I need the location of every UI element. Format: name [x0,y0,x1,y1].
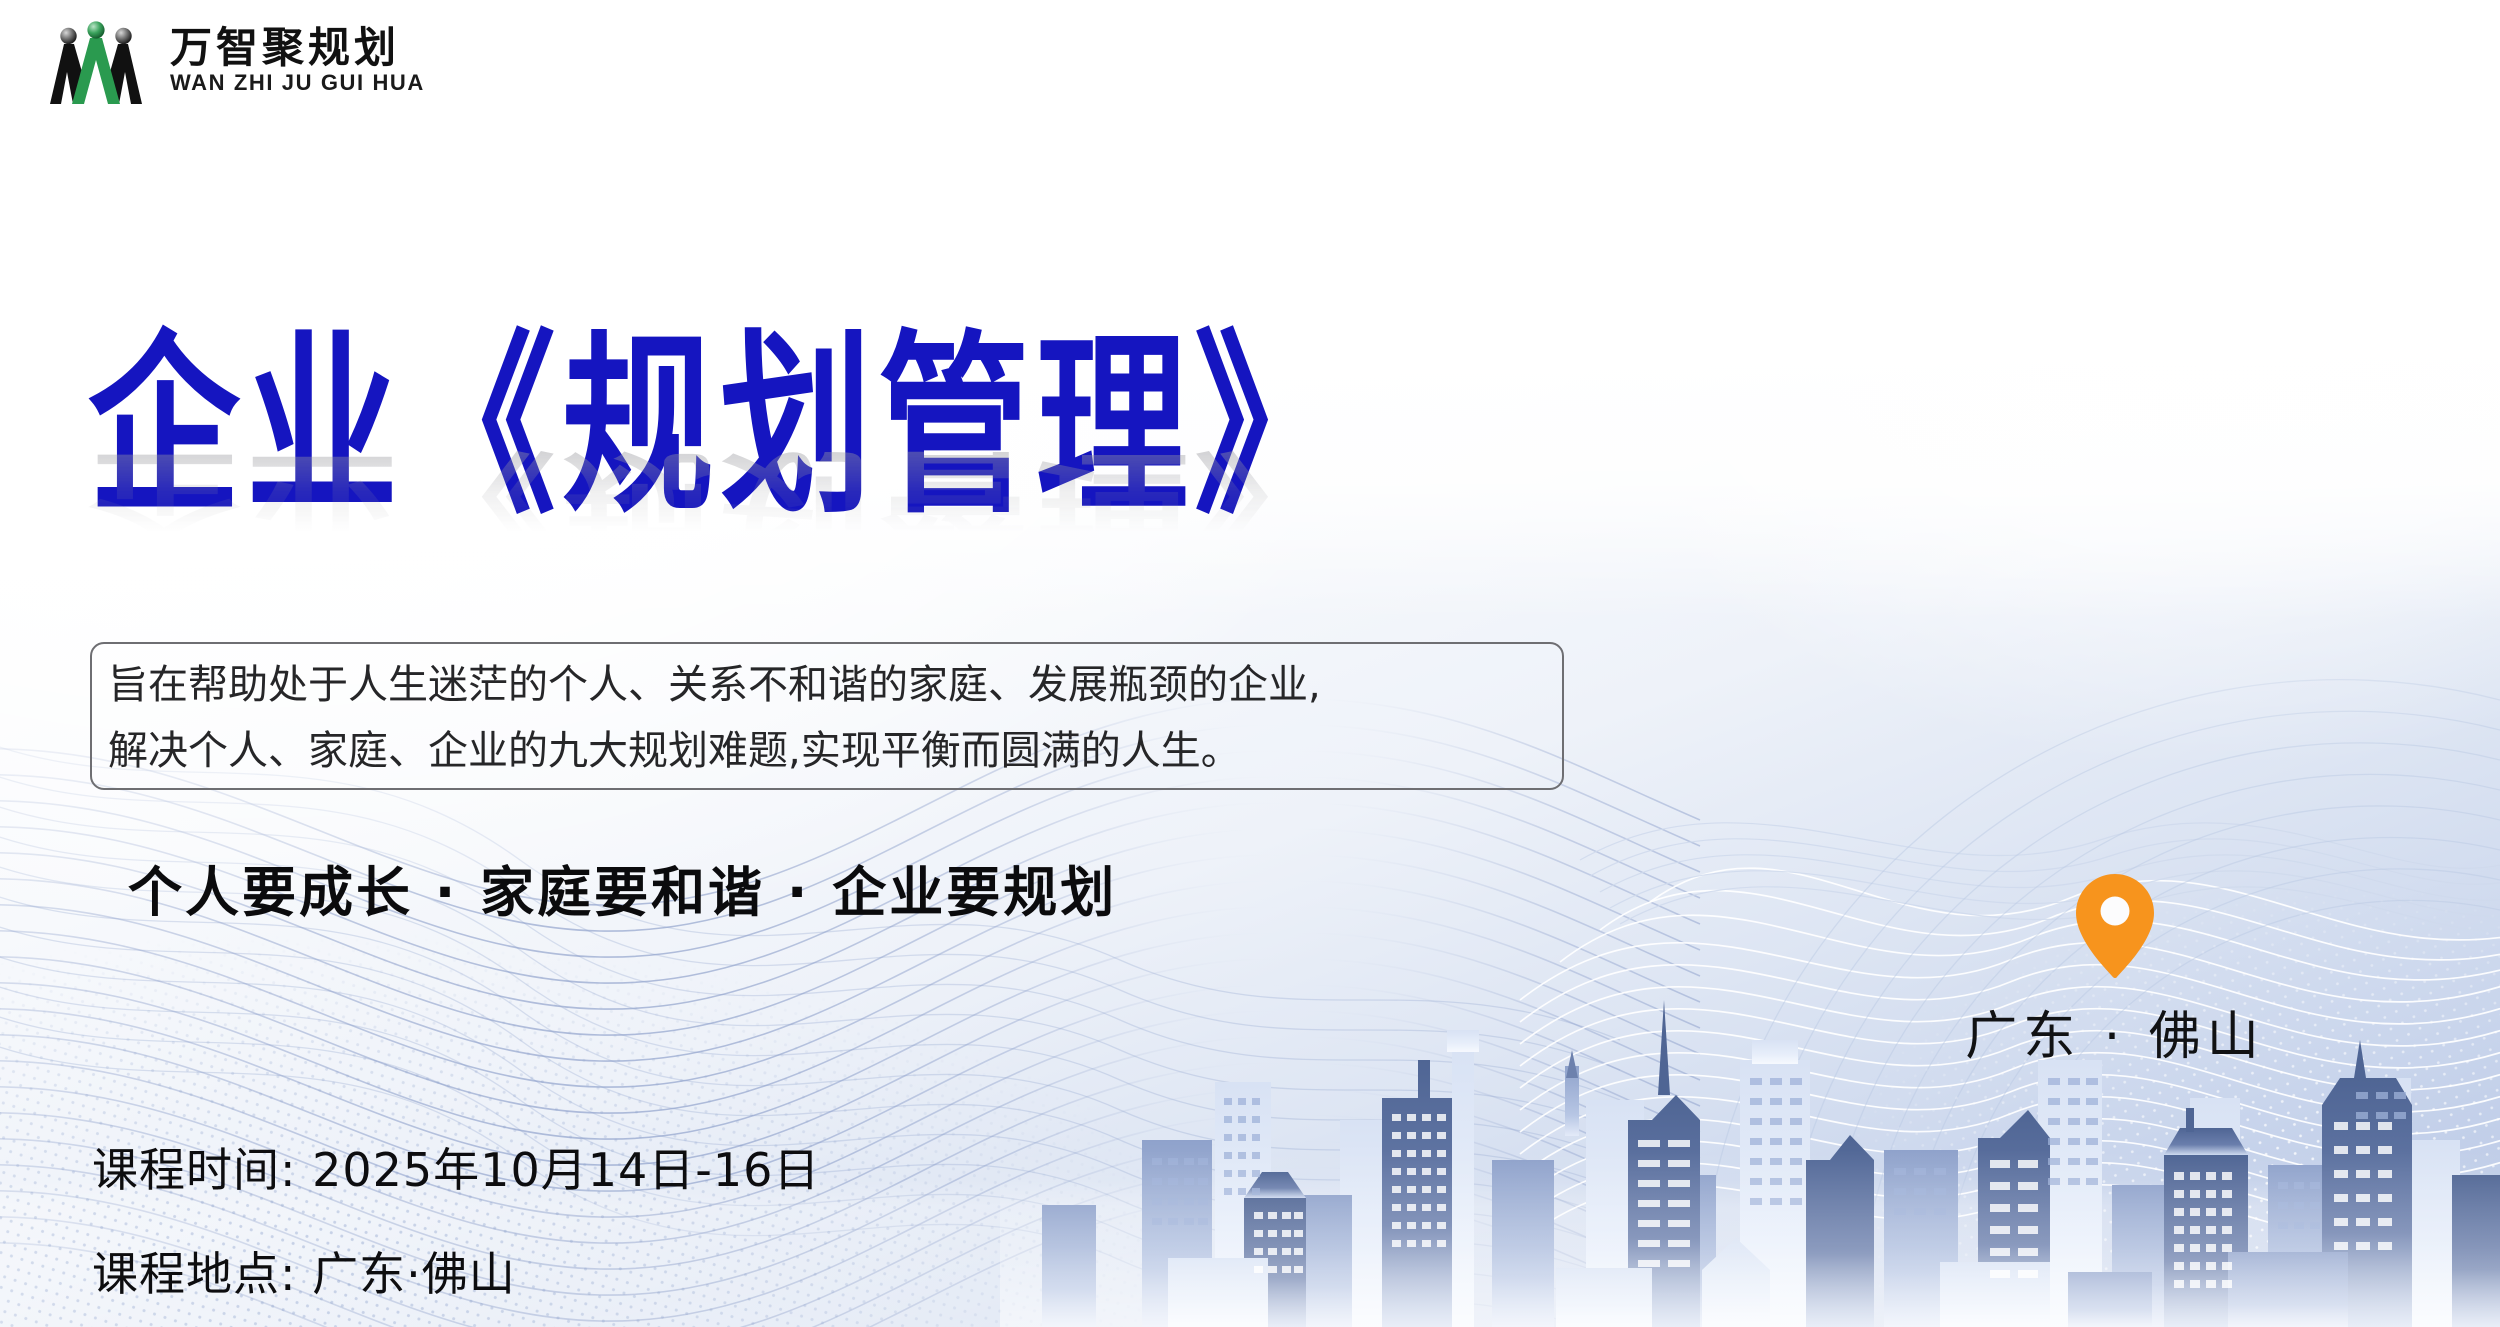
description-line-1: 旨在帮助处于人生迷茫的个人、关系不和谐的家庭、发展瓶颈的企业, [108,652,1546,718]
course-place-row: 课程地点: 广东·佛山 [92,1222,820,1326]
poster-canvas: 万智聚规划 WAN ZHI JU GUI HUA 企业《规划管理》 企业《规划管… [0,0,2500,1327]
three-people-mark-icon [40,14,152,106]
location-label: 广东 · 佛山 [1965,994,2265,1069]
brand-name-en: WAN ZHI JU GUI HUA [170,72,425,94]
right-light-glow [1500,0,2500,760]
main-title-block: 企业《规划管理》 企业《规划管理》 [88,322,1608,622]
brand-name-cn: 万智聚规划 [170,26,425,70]
brand-logo: 万智聚规划 WAN ZHI JU GUI HUA [40,14,425,106]
brand-wordmark: 万智聚规划 WAN ZHI JU GUI HUA [170,26,425,94]
page-title: 企业《规划管理》 [88,322,1608,532]
location-badge: 广东 · 佛山 [1955,872,2275,1069]
course-info-block: 课程时间: 2025年10月14日-16日 课程地点: 广东·佛山 [92,1118,820,1326]
description-line-2: 解决个人、家庭、企业的九大规划难题,实现平衡而圆满的人生。 [108,718,1546,784]
course-time-row: 课程时间: 2025年10月14日-16日 [92,1118,820,1222]
tagline: 个人要成长 · 家庭要和谐 · 企业要规划 [128,848,1117,927]
map-pin-icon [2071,872,2159,980]
description-box: 旨在帮助处于人生迷茫的个人、关系不和谐的家庭、发展瓶颈的企业, 解决个人、家庭、… [90,642,1564,790]
